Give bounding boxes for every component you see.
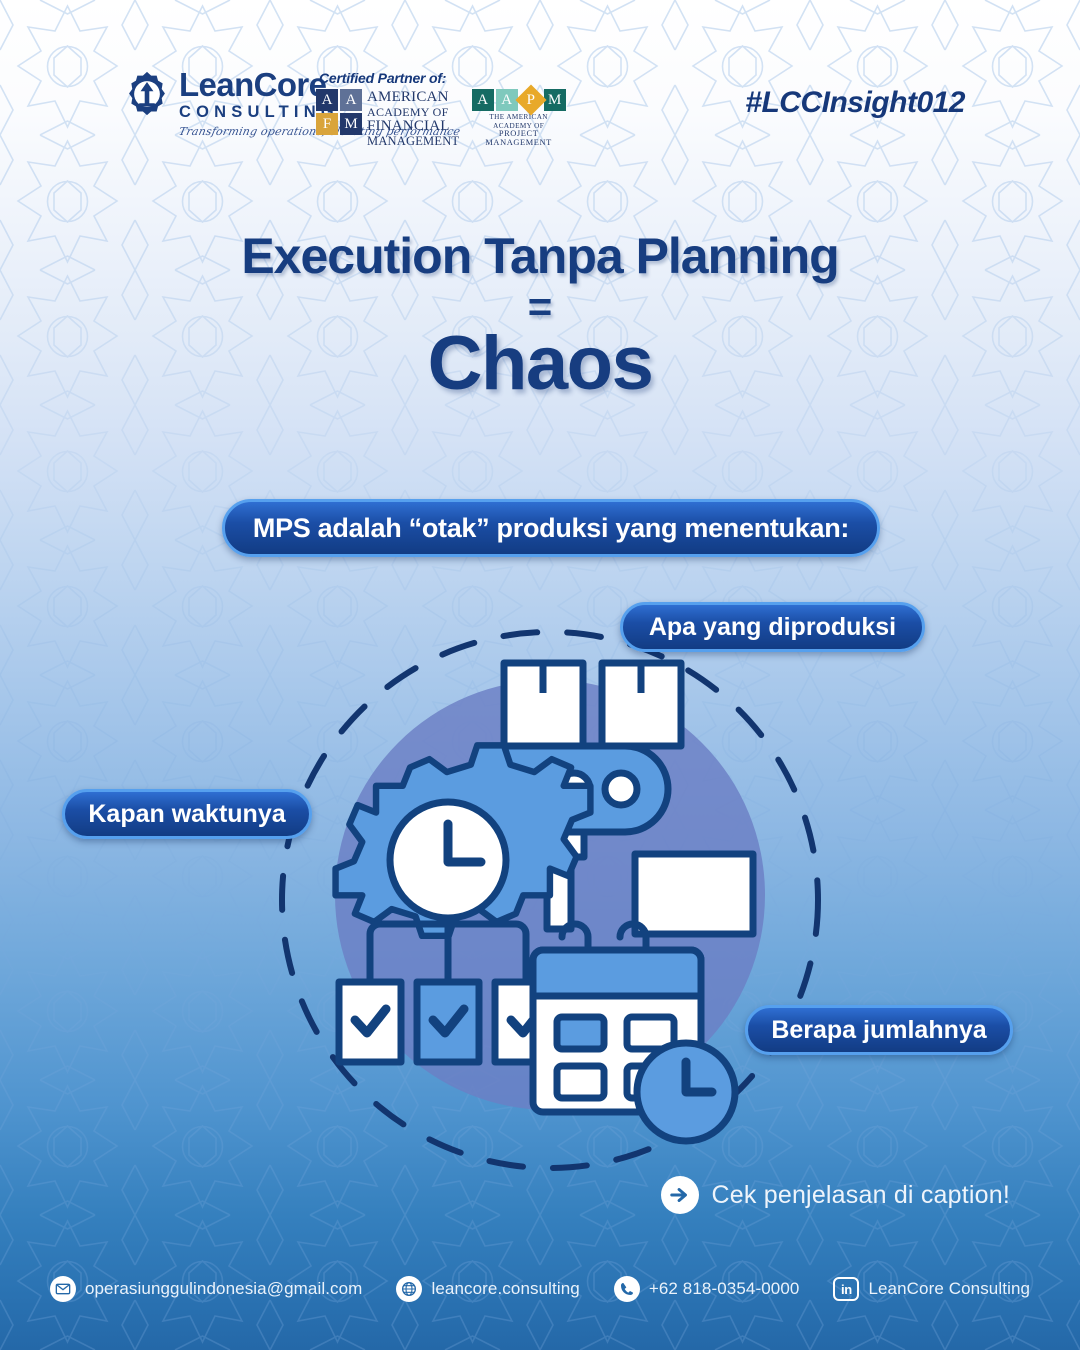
aafm-line-3: FINANCIAL bbox=[367, 119, 459, 134]
aapm-logo: A A P M THE AMERICAN ACADEMY OF PROJECT … bbox=[471, 89, 566, 147]
footer-contact-bar: operasiunggulindonesia@gmail.com leancor… bbox=[0, 1272, 1080, 1306]
footer-linkedin-text: LeanCore Consulting bbox=[868, 1279, 1030, 1299]
aafm-wordmark: AMERICAN ACADEMY OF FINANCIAL MANAGEMENT bbox=[367, 89, 459, 148]
pill-kapan-waktunya[interactable]: Kapan waktunya bbox=[62, 789, 312, 839]
headline-line-1: Execution Tanpa Planning bbox=[0, 228, 1080, 284]
aapm-letter-row: A A P M bbox=[472, 89, 566, 111]
email-icon bbox=[50, 1276, 76, 1302]
certified-partner-block: Certified Partner of: A A F M AMERICAN A… bbox=[316, 70, 566, 148]
footer-email-text: operasiunggulindonesia@gmail.com bbox=[85, 1279, 363, 1299]
aafm-line-2: ACADEMY OF bbox=[367, 105, 459, 120]
headline-line-2: Chaos bbox=[0, 324, 1080, 404]
poster-canvas: LeanCore CONSULTING Transforming operati… bbox=[0, 0, 1080, 1350]
pill-mps-definition[interactable]: MPS adalah “otak” produksi yang menentuk… bbox=[222, 499, 880, 557]
aafm-letter-f: F bbox=[316, 113, 338, 135]
pill-apa-yang-diproduksi[interactable]: Apa yang diproduksi bbox=[620, 602, 925, 652]
aapm-line-2: PROJECT MANAGEMENT bbox=[471, 130, 566, 147]
footer-website[interactable]: leancore.consulting bbox=[396, 1276, 579, 1302]
pill-berapa-jumlahnya[interactable]: Berapa jumlahnya bbox=[745, 1005, 1013, 1055]
aapm-letter-p: P bbox=[515, 84, 546, 115]
footer-email[interactable]: operasiunggulindonesia@gmail.com bbox=[50, 1276, 363, 1302]
headline-block: Execution Tanpa Planning = Chaos bbox=[0, 228, 1080, 404]
aapm-letter-a1: A bbox=[472, 89, 494, 111]
checklist-icon bbox=[339, 918, 557, 1062]
aafm-logo: A A F M AMERICAN ACADEMY OF FINANCIAL MA… bbox=[316, 89, 459, 148]
linkedin-icon: in bbox=[833, 1277, 859, 1301]
post-hashtag: #LCCInsight012 bbox=[745, 86, 965, 120]
phone-icon bbox=[614, 1276, 640, 1302]
aafm-letter-a2: A bbox=[340, 89, 362, 111]
certified-partner-label: Certified Partner of: bbox=[319, 70, 566, 86]
footer-phone[interactable]: +62 818-0354-0000 bbox=[614, 1276, 800, 1302]
aapm-wordmark: THE AMERICAN ACADEMY OF PROJECT MANAGEME… bbox=[471, 113, 566, 147]
arrow-right-circle-icon bbox=[661, 1176, 699, 1214]
aafm-line-4: MANAGEMENT bbox=[367, 134, 459, 149]
caption-cta[interactable]: Cek penjelasan di caption! bbox=[661, 1176, 1010, 1214]
linkedin-glyph: in bbox=[841, 1282, 852, 1297]
footer-website-text: leancore.consulting bbox=[431, 1279, 579, 1299]
gear-arrow-icon bbox=[124, 71, 170, 117]
aapm-letter-p-glyph: P bbox=[526, 92, 534, 109]
aapm-line-1: THE AMERICAN ACADEMY OF bbox=[471, 113, 566, 130]
aapm-letter-m: M bbox=[544, 89, 566, 111]
mps-illustration bbox=[255, 600, 845, 1190]
aafm-letter-grid: A A F M bbox=[316, 89, 362, 135]
aafm-line-1: AMERICAN bbox=[367, 90, 459, 105]
caption-cta-text: Cek penjelasan di caption! bbox=[712, 1181, 1010, 1210]
aafm-letter-m: M bbox=[340, 113, 362, 135]
globe-icon bbox=[396, 1276, 422, 1302]
footer-linkedin[interactable]: in LeanCore Consulting bbox=[833, 1277, 1030, 1301]
aafm-letter-a1: A bbox=[316, 89, 338, 111]
aapm-letter-a2: A bbox=[496, 89, 518, 111]
footer-phone-text: +62 818-0354-0000 bbox=[649, 1279, 800, 1299]
header: LeanCore CONSULTING Transforming operati… bbox=[0, 0, 1080, 175]
